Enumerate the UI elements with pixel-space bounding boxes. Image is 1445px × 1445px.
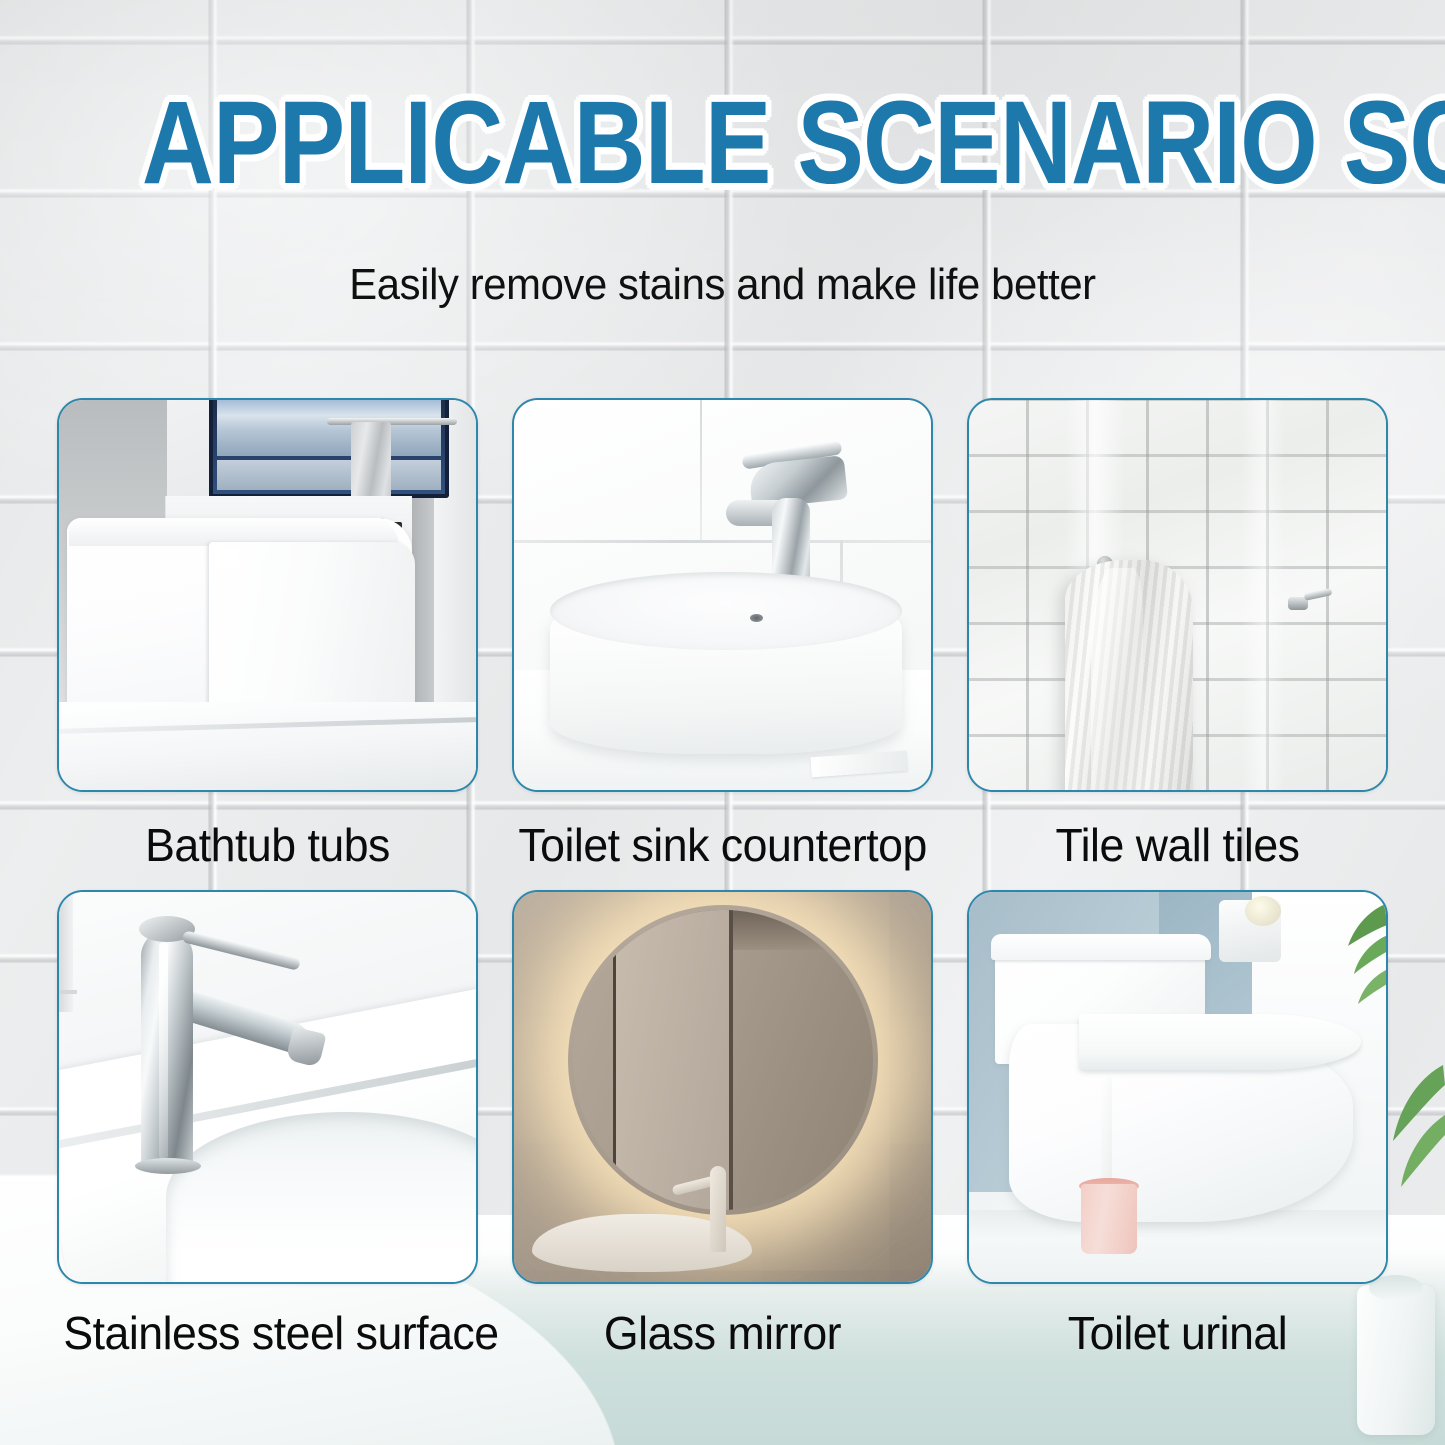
scenario-card-wall-tiles[interactable] (967, 398, 1388, 792)
bathtub-photo (59, 400, 476, 790)
stainless-steel-photo (59, 892, 476, 1282)
tap-icon (710, 1166, 726, 1252)
scenario-cell-glass-mirror[interactable]: Glass mirror (512, 890, 933, 1360)
glass-mirror-photo (514, 892, 931, 1282)
toilet-brush-holder-icon (1081, 1184, 1137, 1254)
scenario-grid: Bathtub tubs (57, 398, 1390, 1360)
overflow-hole-icon (750, 614, 763, 622)
framed-picture-icon (209, 398, 449, 498)
sink-countertop-photo (514, 400, 931, 790)
scenario-cell-sink-countertop[interactable]: Toilet sink countertop (512, 398, 933, 872)
scenario-card-stainless-steel[interactable] (57, 890, 478, 1284)
scenario-card-bathtub[interactable] (57, 398, 478, 792)
towel-bar-icon (327, 418, 457, 425)
round-mirror-icon (573, 910, 873, 1210)
scenario-label-toilet-urinal: Toilet urinal (973, 1284, 1381, 1360)
robe-hook-icon (1288, 596, 1330, 610)
toilet-urinal-photo (969, 892, 1386, 1282)
plant-leaf-icon (1298, 898, 1388, 1028)
wall-tiles-photo (969, 400, 1386, 790)
toilet-seat-icon (1079, 1014, 1361, 1070)
scenario-row-2: Stainless steel surface (57, 890, 1390, 1360)
scenario-cell-stainless-steel[interactable]: Stainless steel surface (57, 890, 478, 1360)
toilet-brush-icon (1101, 1076, 1112, 1194)
scenario-card-sink-countertop[interactable] (512, 398, 933, 792)
infographic-canvas: APPLICABLE SCENARIO SCOPE Easily remove … (0, 0, 1445, 1445)
scenario-label-wall-tiles: Tile wall tiles (973, 792, 1381, 872)
scenario-cell-toilet-urinal[interactable]: Toilet urinal (967, 890, 1388, 1360)
scenario-label-stainless-steel: Stainless steel surface (63, 1284, 471, 1360)
scenario-label-sink-countertop: Toilet sink countertop (518, 792, 926, 872)
toilet-paper-roll-icon (1245, 896, 1281, 926)
scenario-label-glass-mirror: Glass mirror (518, 1284, 926, 1360)
scenario-card-glass-mirror[interactable] (512, 890, 933, 1284)
scenario-card-toilet-urinal[interactable] (967, 890, 1388, 1284)
scenario-row-1: Bathtub tubs (57, 398, 1390, 872)
scenario-cell-bathtub[interactable]: Bathtub tubs (57, 398, 478, 872)
page-subtitle: Easily remove stains and make life bette… (36, 260, 1409, 310)
scenario-cell-wall-tiles[interactable]: Tile wall tiles (967, 398, 1388, 872)
scenario-label-bathtub: Bathtub tubs (63, 792, 471, 872)
faucet-lever-icon (182, 930, 301, 971)
